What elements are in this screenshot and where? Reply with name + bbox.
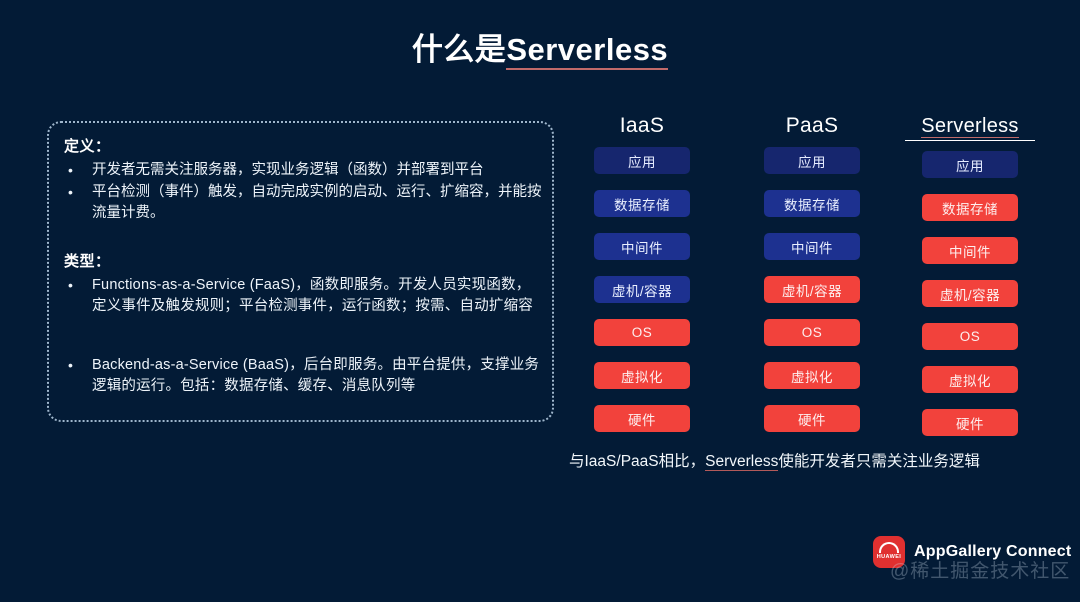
definition-panel: 定义： • 开发者无需关注服务器，实现业务逻辑（函数）并部署到平台 • 平台检测… [47,121,554,422]
page-title: 什么是Serverless [0,24,1080,69]
stack-card-label: 数据存储 [614,194,670,214]
stack-card-label: 虚拟化 [791,366,833,386]
types-bullet-1-text: Functions-as-a-Service (FaaS)，函数即服务。开发人员… [92,275,544,317]
stack-card-iaas-4: OS [594,319,690,346]
definition-heading: 定义： [64,135,111,156]
stack-card-paas-6: 硬件 [764,405,860,432]
types-bullet-2-text: Backend-as-a-Service (BaaS)，后台即服务。由平台提供，… [92,355,544,397]
definition-bullet-2-text: 平台检测（事件）触发，自动完成实例的启动、运行、扩缩容，并能按流量计费。 [92,182,544,224]
stack-card-label: 中间件 [949,241,991,261]
stack-card-label: 应用 [798,151,826,171]
appgallery-arc-shape [879,542,899,553]
stack-card-iaas-2: 中间件 [594,233,690,260]
stack-card-label: 硬件 [628,409,656,429]
stack-card-label: 数据存储 [942,198,998,218]
stack-card-label: 硬件 [956,413,984,433]
stack-card-paas-1: 数据存储 [764,190,860,217]
stack-card-label: OS [960,329,981,344]
types-bullet-1: • Functions-as-a-Service (FaaS)，函数即服务。开发… [64,275,544,317]
column-header-serverless: Serverless [905,113,1035,141]
caption-suffix: 使能开发者只需关注业务逻辑 [778,453,980,470]
stack-card-label: 应用 [956,155,984,175]
page-title-cn: 什么是 [412,32,507,67]
stack-card-paas-4: OS [764,319,860,346]
types-heading: 类型： [64,250,111,271]
stack-card-label: OS [802,325,823,340]
footer-brand-label: AppGallery Connect [914,543,1071,561]
bullet-marker-icon: • [64,355,92,397]
caption-emphasis: Serverless [705,453,778,471]
stack-card-label: 应用 [628,151,656,171]
column-header-serverless-text: Serverless [921,115,1018,138]
stack-card-label: 虚拟化 [949,370,991,390]
caption-prefix: 与IaaS/PaaS相比， [569,453,705,470]
stack-card-label: 虚机/容器 [940,284,1000,304]
types-bullet-2: • Backend-as-a-Service (BaaS)，后台即服务。由平台提… [64,355,544,397]
huawei-appgallery-icon: HUAWEI [873,536,905,568]
stack-card-label: 中间件 [791,237,833,257]
stack-card-iaas-0: 应用 [594,147,690,174]
stack-card-label: 虚机/容器 [612,280,672,300]
stack-card-label: 虚拟化 [621,366,663,386]
huawei-wordmark: HUAWEI [873,554,905,560]
stack-card-label: 数据存储 [784,194,840,214]
card-list-iaas: 应用数据存储中间件虚机/容器OS虚拟化硬件 [577,147,707,432]
stack-card-paas-0: 应用 [764,147,860,174]
column-header-paas: PaaS [747,113,877,139]
column-header-iaas: IaaS [577,113,707,139]
stack-card-iaas-3: 虚机/容器 [594,276,690,303]
card-list-paas: 应用数据存储中间件虚机/容器OS虚拟化硬件 [747,147,877,432]
stack-card-serverless-6: 硬件 [922,409,1018,436]
stack-card-label: OS [632,325,653,340]
stack-card-paas-2: 中间件 [764,233,860,260]
bullet-marker-icon: • [64,275,92,317]
stack-card-serverless-1: 数据存储 [922,194,1018,221]
stack-column-paas: PaaS 应用数据存储中间件虚机/容器OS虚拟化硬件 [747,113,877,448]
definition-bullet-2: • 平台检测（事件）触发，自动完成实例的启动、运行、扩缩容，并能按流量计费。 [64,182,544,224]
stack-column-serverless: Serverless 应用数据存储中间件虚机/容器OS虚拟化硬件 [905,113,1035,452]
stack-card-paas-5: 虚拟化 [764,362,860,389]
stack-column-iaas: IaaS 应用数据存储中间件虚机/容器OS虚拟化硬件 [577,113,707,448]
definition-bullet-1: • 开发者无需关注服务器，实现业务逻辑（函数）并部署到平台 [64,160,544,181]
stack-card-serverless-2: 中间件 [922,237,1018,264]
stack-card-iaas-5: 虚拟化 [594,362,690,389]
stack-card-serverless-3: 虚机/容器 [922,280,1018,307]
stack-card-serverless-5: 虚拟化 [922,366,1018,393]
stack-card-serverless-4: OS [922,323,1018,350]
stack-card-paas-3: 虚机/容器 [764,276,860,303]
bullet-marker-icon: • [64,182,92,224]
stack-card-serverless-0: 应用 [922,151,1018,178]
caption: 与IaaS/PaaS相比，Serverless使能开发者只需关注业务逻辑 [569,450,1041,474]
stack-card-iaas-1: 数据存储 [594,190,690,217]
stack-card-label: 中间件 [621,237,663,257]
definition-bullet-1-text: 开发者无需关注服务器，实现业务逻辑（函数）并部署到平台 [92,160,544,181]
stack-card-iaas-6: 硬件 [594,405,690,432]
stack-card-label: 虚机/容器 [782,280,842,300]
bullet-marker-icon: • [64,160,92,181]
page-title-en: Serverless [506,32,668,70]
footer-logo: HUAWEI AppGallery Connect [873,536,1071,568]
slide-canvas: 什么是Serverless 定义： • 开发者无需关注服务器，实现业务逻辑（函数… [0,0,1080,602]
stack-card-label: 硬件 [798,409,826,429]
card-list-serverless: 应用数据存储中间件虚机/容器OS虚拟化硬件 [905,151,1035,436]
